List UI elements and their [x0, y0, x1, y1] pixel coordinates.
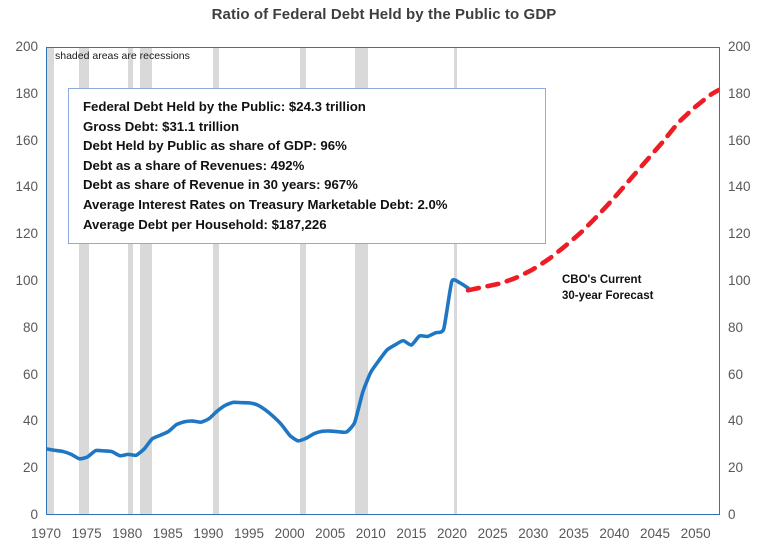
x-axis-tick-label: 2045 [633, 527, 677, 541]
stats-line: Average Interest Rates on Treasury Marke… [83, 195, 533, 215]
forecast-annotation-line1: CBO's Current [562, 272, 653, 288]
x-axis-tick-label: 2025 [471, 527, 515, 541]
forecast-annotation-line2: 30-year Forecast [562, 288, 653, 304]
x-axis-tick-label: 1985 [146, 527, 190, 541]
x-axis-tick-label: 2050 [674, 527, 718, 541]
x-axis-tick-label: 2000 [268, 527, 312, 541]
x-axis-tick-label: 1990 [186, 527, 230, 541]
x-axis-tick-label: 2035 [552, 527, 596, 541]
x-axis-tick-label: 2020 [430, 527, 474, 541]
x-axis-tick-label: 1975 [65, 527, 109, 541]
x-axis-tick-label: 2010 [349, 527, 393, 541]
x-axis-tick-label: 2015 [389, 527, 433, 541]
stats-line: Debt as share of Revenue in 30 years: 96… [83, 175, 533, 195]
stats-box: Federal Debt Held by the Public: $24.3 t… [68, 88, 546, 244]
stats-line: Average Debt per Household: $187,226 [83, 215, 533, 235]
stats-line: Debt Held by Public as share of GDP: 96% [83, 136, 533, 156]
stats-line: Gross Debt: $31.1 trillion [83, 117, 533, 137]
x-axis-tick-label: 1995 [227, 527, 271, 541]
x-axis-tick-label: 1980 [105, 527, 149, 541]
x-axis-tick-label: 2030 [511, 527, 555, 541]
recession-note: shaded areas are recessions [55, 50, 190, 62]
stats-line: Debt as a share of Revenues: 492% [83, 156, 533, 176]
stats-lines: Federal Debt Held by the Public: $24.3 t… [83, 97, 533, 234]
stats-line: Federal Debt Held by the Public: $24.3 t… [83, 97, 533, 117]
forecast-annotation: CBO's Current 30-year Forecast [562, 272, 653, 304]
x-axis-tick-label: 2040 [592, 527, 636, 541]
x-axis-tick-label: 1970 [24, 527, 68, 541]
x-axis-tick-label: 2005 [308, 527, 352, 541]
chart-root: Ratio of Federal Debt Held by the Public… [0, 0, 768, 560]
